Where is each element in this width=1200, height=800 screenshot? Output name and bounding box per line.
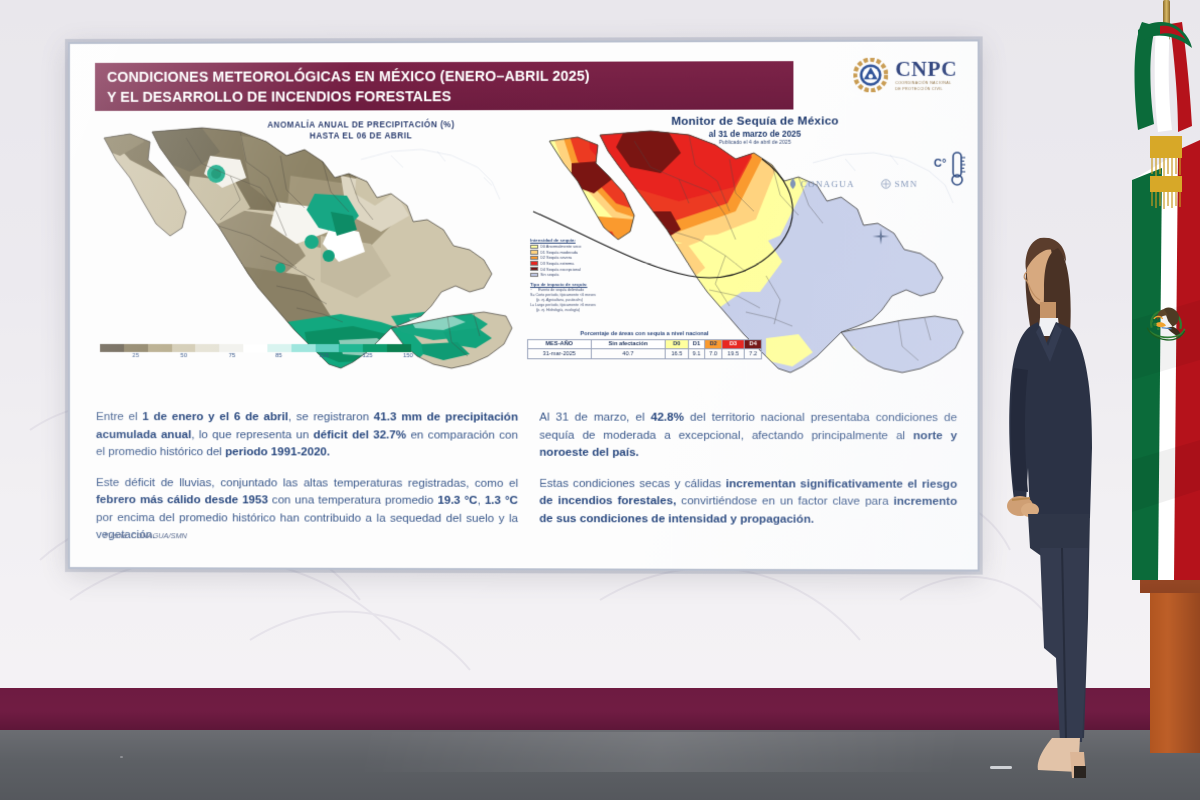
th-mes-ano: MES-AÑO [528,339,591,349]
agency-logos: CONAGUA SMN [788,178,918,189]
td-d1: 9.1 [688,349,705,359]
press-conference-stage: CONDICIONES METEOROLÓGICAS EN MÉXICO (EN… [0,0,1200,800]
drought-table-caption: Porcentaje de áreas con sequía a nivel n… [527,331,762,337]
impact-legend-title: Tipo de impacto de sequía: [530,281,623,286]
td-d3: 19.5 [722,349,745,359]
precip-tick-6: 150 [403,353,413,359]
legend-label-d4: D4 Sequía excepcional [540,266,580,271]
th-d3: D3 [722,339,745,349]
swatch-d1-icon [530,250,538,254]
right-text-column: Al 31 de marzo, el 42.8% del territorio … [539,409,957,542]
legend-item-sin-sequia: Sin sequía [530,272,623,278]
thermometer-label: C° [934,158,947,170]
smn-emblem-icon [881,178,891,188]
drought-monitor-map[interactable]: Monitor de Sequía de México al 31 de mar… [527,114,973,402]
cnpc-shield-icon [854,58,889,92]
legend-label-d1: D1 Sequía moderada [540,250,577,255]
impact-label-0: Evento de sequía delimitado [538,287,584,291]
conagua-label: CONAGUA [801,178,855,188]
cnpc-logo: CNPC COORDINACIÓN NACIONAL DE PROTECCIÓN… [854,58,958,93]
smn-label: SMN [894,178,918,188]
projected-slide[interactable]: CONDICIONES METEOROLÓGICAS EN MÉXICO (EN… [68,39,980,571]
swatch-d2-icon [530,256,538,260]
drought-legend-title: Intensidad de sequía: [530,238,623,243]
swatch-d4-icon [530,267,538,271]
swatch-sin-sequia-icon [530,272,538,276]
presenter-person [1000,218,1120,800]
table-row: 31-mar-2025 40.7 16.5 9.1 7.0 19.5 7.2 [528,349,762,359]
precip-color-legend: 25 50 75 85 115 125 150 [100,344,411,365]
precip-tick-2: 75 [229,353,236,359]
legend-label-d0: D0 Anormalmente seco [540,244,581,249]
precip-tick-0: 25 [132,353,139,359]
smn-logo: SMN [881,178,918,188]
precip-tick-3: 85 [275,353,282,359]
precip-legend-ticks: 25 50 75 85 115 125 150 [100,353,411,365]
th-sin-afectacion: Sin afectación [591,339,666,349]
legend-label-d3: D3 Sequía extrema [540,261,574,266]
td-d2: 7.0 [705,349,722,359]
impact-item-4: (p. ej. Hidrología, ecología) [530,308,623,313]
maps-row: ANOMALÍA ANUAL DE PRECIPITACIÓN (%) HAST… [70,114,980,407]
swatch-d0-icon [530,244,538,248]
drought-percentage-table[interactable]: Porcentaje de áreas con sequía a nivel n… [527,331,762,359]
precipitation-anomaly-map[interactable]: ANOMALÍA ANUAL DE PRECIPITACIÓN (%) HAST… [90,115,522,401]
compass-rose-icon [872,227,890,245]
cnpc-acronym: CNPC [895,59,957,80]
th-d4: D4 [745,339,762,349]
left-paragraph-1: Entre el 1 de enero y el 6 de abril, se … [96,408,518,461]
td-d0: 16.5 [665,349,688,359]
slide-title-line2: Y EL DESARROLLO DE INCENDIOS FORESTALES [107,86,783,108]
thermometer-icon: C° [933,149,970,189]
legend-label-sin-sequia: Sin sequía [540,272,559,277]
slide-title-line1: CONDICIONES METEOROLÓGICAS EN MÉXICO (EN… [107,66,783,88]
td-mes-ano: 31-mar-2025 [528,349,591,359]
conagua-logo: CONAGUA [788,178,854,189]
text-columns: Entre el 1 de enero y el 6 de abril, se … [70,408,980,550]
drought-intensity-legend: Intensidad de sequía: D0 Anormalmente se… [530,238,623,313]
slide-source-note: Fuente: CONAGUA/SMN [104,531,187,540]
precip-legend-bar [100,344,411,352]
cnpc-subtitle-2: DE PROTECCIÓN CIVIL [895,87,957,91]
td-sin-afectacion: 40.7 [591,349,666,359]
table-header-row: MES-AÑO Sin afectación D0 D1 D2 D3 D4 [528,339,762,349]
right-paragraph-2: Estas condiciones secas y cálidas increm… [539,474,957,528]
slide-title-band: CONDICIONES METEOROLÓGICAS EN MÉXICO (EN… [95,61,793,111]
podium-body [1150,593,1200,753]
mexican-flag [1132,20,1200,580]
th-d1: D1 [688,339,705,349]
floor-speck [120,756,123,758]
swatch-d3-icon [530,261,538,265]
precip-tick-1: 50 [180,353,187,359]
td-d4: 7.2 [745,349,762,359]
th-d0: D0 [665,339,688,349]
right-paragraph-1: Al 31 de marzo, el 42.8% del territorio … [539,409,957,462]
cnpc-subtitle-1: COORDINACIÓN NACIONAL [895,82,957,86]
precip-tick-4: 115 [319,353,329,359]
legend-label-d2: D2 Sequía severa [540,255,571,260]
precip-tick-5: 125 [362,353,372,359]
water-drop-icon [788,178,797,189]
th-d2: D2 [705,339,722,349]
